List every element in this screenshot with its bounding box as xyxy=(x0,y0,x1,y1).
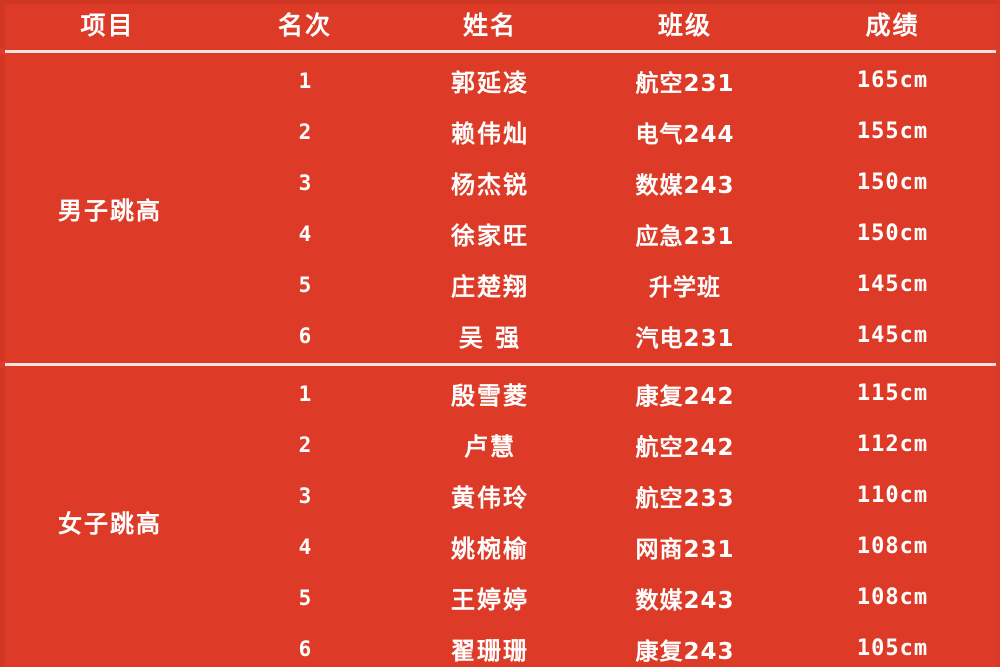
table-row[interactable]: 1 殷雪菱 康复242 115cm xyxy=(215,368,1000,419)
cell-class: 航空242 xyxy=(585,428,785,462)
cell-name: 赖伟灿 xyxy=(395,114,585,149)
cell-score: 115cm xyxy=(785,381,1000,406)
table-row[interactable]: 2 赖伟灿 电气244 155cm xyxy=(215,106,1000,157)
table-row[interactable]: 6 翟珊珊 康复243 105cm xyxy=(215,623,1000,667)
rank-value: 3 xyxy=(299,484,312,508)
class-value: 数媒243 xyxy=(635,166,734,200)
class-value: 升学班 xyxy=(649,268,721,302)
cell-score: 110cm xyxy=(785,483,1000,508)
table-row[interactable]: 5 庄楚翔 升学班 145cm xyxy=(215,259,1000,310)
table-row[interactable]: 1 郭延凌 航空231 165cm xyxy=(215,55,1000,106)
section-rows-womens: 1 殷雪菱 康复242 115cm 2 卢慧 航空242 112cm 3 黄伟玲… xyxy=(215,368,1000,667)
column-header-class: 班级 xyxy=(585,6,785,42)
event-label-womens: 女子跳高 xyxy=(0,368,215,667)
cell-class: 电气244 xyxy=(585,115,785,149)
rank-value: 1 xyxy=(299,69,312,93)
class-value: 汽电231 xyxy=(635,319,734,353)
cell-class: 康复243 xyxy=(585,632,785,666)
cell-name: 姚椀榆 xyxy=(395,529,585,564)
cell-rank: 1 xyxy=(215,69,395,93)
score-value: 145cm xyxy=(857,272,928,297)
table-row[interactable]: 4 姚椀榆 网商231 108cm xyxy=(215,521,1000,572)
table-row[interactable]: 3 黄伟玲 航空233 110cm xyxy=(215,470,1000,521)
cell-name: 郭延凌 xyxy=(395,63,585,98)
cell-score: 108cm xyxy=(785,534,1000,559)
cell-rank: 2 xyxy=(215,433,395,457)
cell-class: 数媒243 xyxy=(585,581,785,615)
score-value: 145cm xyxy=(857,323,928,348)
cell-rank: 6 xyxy=(215,637,395,661)
column-header-name: 姓名 xyxy=(395,6,585,42)
score-value: 108cm xyxy=(857,585,928,610)
cell-score: 105cm xyxy=(785,636,1000,661)
rank-value: 6 xyxy=(299,324,312,348)
rank-value: 2 xyxy=(299,120,312,144)
cell-rank: 3 xyxy=(215,484,395,508)
cell-rank: 1 xyxy=(215,382,395,406)
cell-rank: 5 xyxy=(215,586,395,610)
score-value: 165cm xyxy=(857,68,928,93)
rank-value: 6 xyxy=(299,637,312,661)
cell-class: 网商231 xyxy=(585,530,785,564)
cell-name: 徐家旺 xyxy=(395,216,585,251)
cell-name: 庄楚翔 xyxy=(395,267,585,302)
column-header-rank: 名次 xyxy=(215,6,395,42)
cell-name: 翟珊珊 xyxy=(395,631,585,666)
rank-value: 1 xyxy=(299,382,312,406)
column-header-score: 成绩 xyxy=(785,6,1000,42)
cell-name: 吴 强 xyxy=(395,318,585,353)
cell-rank: 3 xyxy=(215,171,395,195)
class-value: 网商231 xyxy=(635,530,734,564)
class-value: 应急231 xyxy=(635,217,734,251)
table-header-row: 项目 名次 姓名 班级 成绩 xyxy=(0,0,1000,48)
table-row[interactable]: 6 吴 强 汽电231 145cm xyxy=(215,310,1000,361)
cell-score: 112cm xyxy=(785,432,1000,457)
class-value: 康复243 xyxy=(635,632,734,666)
section-rows-mens: 1 郭延凌 航空231 165cm 2 赖伟灿 电气244 155cm 3 杨杰… xyxy=(215,55,1000,361)
score-value: 155cm xyxy=(857,119,928,144)
event-label-mens: 男子跳高 xyxy=(0,55,215,361)
cell-class: 汽电231 xyxy=(585,319,785,353)
score-value: 115cm xyxy=(857,381,928,406)
table-row[interactable]: 4 徐家旺 应急231 150cm xyxy=(215,208,1000,259)
class-value: 康复242 xyxy=(635,377,734,411)
rank-value: 4 xyxy=(299,535,312,559)
cell-score: 165cm xyxy=(785,68,1000,93)
score-value: 112cm xyxy=(857,432,928,457)
table-row[interactable]: 3 杨杰锐 数媒243 150cm xyxy=(215,157,1000,208)
class-value: 数媒243 xyxy=(635,581,734,615)
cell-score: 155cm xyxy=(785,119,1000,144)
rank-value: 4 xyxy=(299,222,312,246)
cell-class: 航空233 xyxy=(585,479,785,513)
cell-rank: 4 xyxy=(215,535,395,559)
header-divider xyxy=(0,48,1000,55)
cell-name: 卢慧 xyxy=(395,427,585,462)
cell-class: 升学班 xyxy=(585,268,785,302)
cell-class: 康复242 xyxy=(585,377,785,411)
cell-name: 黄伟玲 xyxy=(395,478,585,513)
score-value: 108cm xyxy=(857,534,928,559)
cell-name: 王婷婷 xyxy=(395,580,585,615)
results-board: 项目 名次 姓名 班级 成绩 男子跳高 1 郭延凌 航空231 165cm 2 … xyxy=(0,0,1000,667)
class-value: 电气244 xyxy=(635,115,734,149)
rank-value: 5 xyxy=(299,273,312,297)
cell-rank: 4 xyxy=(215,222,395,246)
cell-name: 殷雪菱 xyxy=(395,376,585,411)
cell-score: 145cm xyxy=(785,272,1000,297)
score-value: 110cm xyxy=(857,483,928,508)
cell-rank: 2 xyxy=(215,120,395,144)
table-row[interactable]: 2 卢慧 航空242 112cm xyxy=(215,419,1000,470)
column-header-event: 项目 xyxy=(0,6,215,42)
cell-score: 150cm xyxy=(785,170,1000,195)
cell-class: 数媒243 xyxy=(585,166,785,200)
cell-score: 150cm xyxy=(785,221,1000,246)
score-value: 105cm xyxy=(857,636,928,661)
cell-class: 航空231 xyxy=(585,64,785,98)
class-value: 航空231 xyxy=(635,64,734,98)
table-row[interactable]: 5 王婷婷 数媒243 108cm xyxy=(215,572,1000,623)
class-value: 航空242 xyxy=(635,428,734,462)
cell-rank: 6 xyxy=(215,324,395,348)
results-table: 项目 名次 姓名 班级 成绩 男子跳高 1 郭延凌 航空231 165cm 2 … xyxy=(0,0,1000,667)
section-womens-high-jump: 女子跳高 1 殷雪菱 康复242 115cm 2 卢慧 航空242 112cm … xyxy=(0,368,1000,667)
rank-value: 2 xyxy=(299,433,312,457)
cell-score: 145cm xyxy=(785,323,1000,348)
class-value: 航空233 xyxy=(635,479,734,513)
rank-value: 5 xyxy=(299,586,312,610)
score-value: 150cm xyxy=(857,221,928,246)
cell-rank: 5 xyxy=(215,273,395,297)
section-divider xyxy=(0,361,1000,368)
score-value: 150cm xyxy=(857,170,928,195)
cell-class: 应急231 xyxy=(585,217,785,251)
cell-name: 杨杰锐 xyxy=(395,165,585,200)
cell-score: 108cm xyxy=(785,585,1000,610)
rank-value: 3 xyxy=(299,171,312,195)
section-mens-high-jump: 男子跳高 1 郭延凌 航空231 165cm 2 赖伟灿 电气244 155cm… xyxy=(0,55,1000,361)
